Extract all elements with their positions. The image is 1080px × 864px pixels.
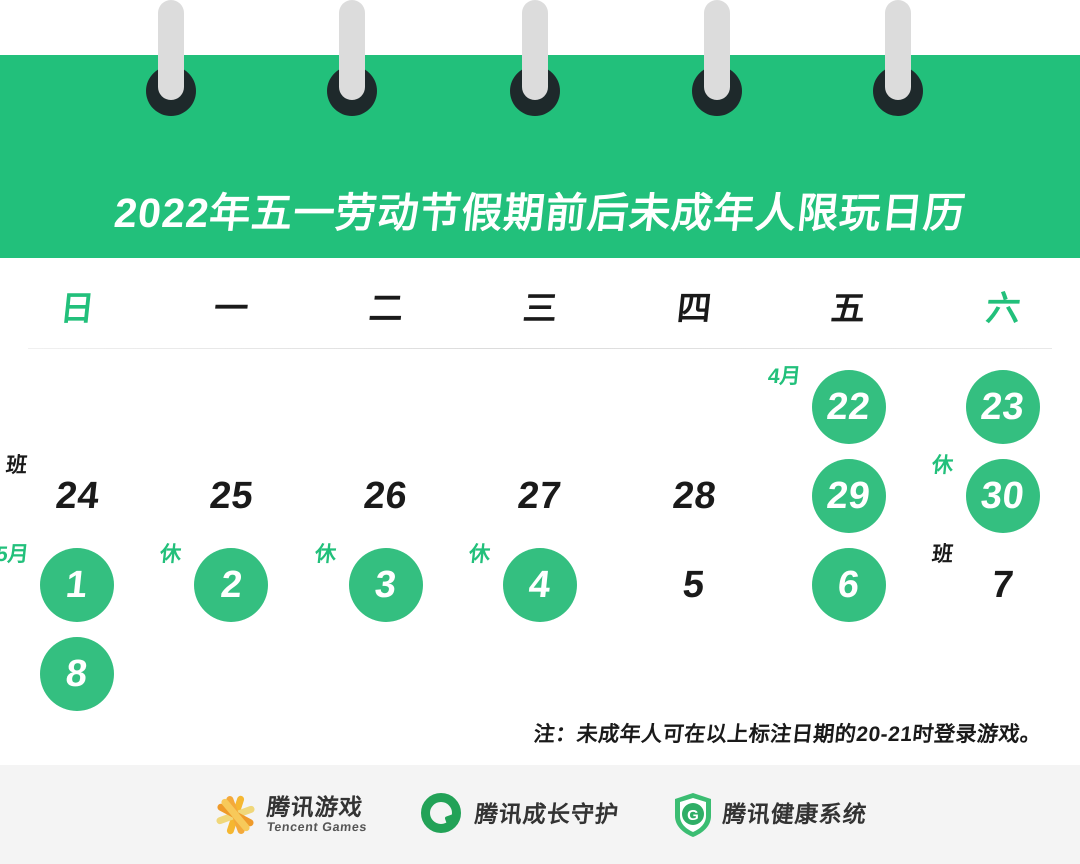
rest-tag: 休 xyxy=(159,544,182,565)
day-number: 2 xyxy=(219,566,245,604)
page-title: 2022年五一劳动节假期前后未成年人限玩日历 xyxy=(0,193,1080,234)
day-cell-apr-25[interactable]: 25 xyxy=(194,459,268,533)
calendar-cell[interactable]: 5 xyxy=(617,540,771,629)
rest-tag: 休 xyxy=(314,544,337,565)
day-number: 4 xyxy=(527,566,553,604)
rest-tag: 休 xyxy=(468,544,491,565)
day-number: 1 xyxy=(64,566,90,604)
month-tag-april: 4月 xyxy=(766,366,801,387)
calendar-cell xyxy=(0,362,154,451)
day-cell xyxy=(40,370,114,444)
brand-text: 腾讯健康系统 xyxy=(723,802,867,826)
rest-tag: 休 xyxy=(931,455,954,476)
calendar-cell xyxy=(771,629,925,718)
day-number: 26 xyxy=(362,477,409,515)
day-cell xyxy=(194,370,268,444)
brand-health-system: G 腾讯健康系统 xyxy=(673,792,867,838)
brand-text: 腾讯游戏 Tencent Games xyxy=(267,795,367,834)
brand-text: 腾讯成长守护 xyxy=(475,802,619,826)
calendar-cell[interactable]: 班7 xyxy=(926,540,1080,629)
day-number: 22 xyxy=(825,388,872,426)
svg-text:G: G xyxy=(687,807,699,824)
day-cell xyxy=(194,637,268,711)
calendar-week-row: 班24 25 26 27 28 29 休30 xyxy=(0,451,1080,540)
day-number: 6 xyxy=(836,566,862,604)
day-number: 5 xyxy=(681,566,707,604)
day-number: 27 xyxy=(516,477,563,515)
calendar-cell xyxy=(463,362,617,451)
day-cell-may-8[interactable]: 8 xyxy=(40,637,114,711)
brand-tencent-games: 腾讯游戏 Tencent Games xyxy=(213,793,367,837)
weekday-saturday: 六 xyxy=(922,278,1080,340)
calendar-cell[interactable]: 4月22 xyxy=(771,362,925,451)
growth-guard-ring-icon xyxy=(421,793,465,837)
calendar-week-row: 5月1 休2 休3 休4 5 6 班7 xyxy=(0,540,1080,629)
work-tag: 班 xyxy=(931,544,954,565)
weekday-header-row: 日 一 二 三 四 五 六 xyxy=(0,278,1080,340)
day-cell xyxy=(812,637,886,711)
calendar-cell[interactable]: 休3 xyxy=(309,540,463,629)
day-cell-may-7[interactable]: 班7 xyxy=(966,548,1040,622)
work-tag: 班 xyxy=(5,455,28,476)
day-number: 30 xyxy=(979,477,1026,515)
health-system-shield-icon: G xyxy=(673,792,713,838)
day-cell xyxy=(503,637,577,711)
poster-header: 2022年五一劳动节假期前后未成年人限玩日历 xyxy=(0,55,1080,258)
day-cell-apr-28[interactable]: 28 xyxy=(657,459,731,533)
calendar-poster: 2022年五一劳动节假期前后未成年人限玩日历 日 一 二 三 四 五 六 4月2… xyxy=(0,0,1080,864)
day-number: 23 xyxy=(979,388,1026,426)
calendar-cell[interactable]: 休4 xyxy=(463,540,617,629)
calendar-cell[interactable]: 26 xyxy=(309,451,463,540)
calendar-cell[interactable]: 休2 xyxy=(154,540,308,629)
brand-name-cn: 腾讯游戏 xyxy=(266,795,369,819)
day-cell-may-2[interactable]: 休2 xyxy=(194,548,268,622)
day-cell xyxy=(657,370,731,444)
day-number: 7 xyxy=(990,566,1016,604)
day-cell-may-6[interactable]: 6 xyxy=(812,548,886,622)
day-number: 3 xyxy=(373,566,399,604)
month-tag-may: 5月 xyxy=(0,544,30,565)
footnote: 注：未成年人可在以上标注日期的20-21时登录游戏。 xyxy=(533,718,1044,748)
day-cell-may-3[interactable]: 休3 xyxy=(349,548,423,622)
footer-brand-bar: 腾讯游戏 Tencent Games 腾讯成长守护 G xyxy=(0,765,1080,864)
day-cell-apr-30[interactable]: 休30 xyxy=(966,459,1040,533)
calendar-cell xyxy=(154,362,308,451)
weekday-tuesday: 二 xyxy=(305,278,466,340)
calendar-cell xyxy=(926,629,1080,718)
calendar-cell[interactable]: 29 xyxy=(771,451,925,540)
brand-name-cn: 腾讯健康系统 xyxy=(722,802,869,826)
calendar-week-row: 8 xyxy=(0,629,1080,718)
calendar-cell xyxy=(309,362,463,451)
calendar-cell xyxy=(463,629,617,718)
day-number: 25 xyxy=(208,477,255,515)
calendar-cell[interactable]: 5月1 xyxy=(0,540,154,629)
calendar-cell[interactable]: 班24 xyxy=(0,451,154,540)
day-cell xyxy=(349,637,423,711)
weekday-wednesday: 三 xyxy=(460,278,621,340)
calendar-cell[interactable]: 25 xyxy=(154,451,308,540)
calendar-cell[interactable]: 8 xyxy=(0,629,154,718)
day-cell xyxy=(657,637,731,711)
day-number: 24 xyxy=(54,477,101,515)
calendar-cell[interactable]: 28 xyxy=(617,451,771,540)
calendar-week-row: 4月22 23 xyxy=(0,362,1080,451)
day-cell-apr-22[interactable]: 4月22 xyxy=(812,370,886,444)
brand-name-en: Tencent Games xyxy=(266,821,367,834)
calendar-cell[interactable]: 23 xyxy=(926,362,1080,451)
calendar-grid: 4月22 23 班24 25 26 27 28 29 休30 5月1 休2 休3… xyxy=(0,362,1080,718)
weekday-sunday: 日 xyxy=(0,278,158,340)
header-divider xyxy=(28,348,1052,349)
day-cell-apr-26[interactable]: 26 xyxy=(349,459,423,533)
day-cell xyxy=(349,370,423,444)
day-cell-apr-23[interactable]: 23 xyxy=(966,370,1040,444)
calendar-cell xyxy=(309,629,463,718)
calendar-cell[interactable]: 休30 xyxy=(926,451,1080,540)
day-cell-apr-27[interactable]: 27 xyxy=(503,459,577,533)
day-number: 28 xyxy=(671,477,718,515)
day-cell xyxy=(503,370,577,444)
day-cell-may-1[interactable]: 5月1 xyxy=(40,548,114,622)
calendar-cell xyxy=(154,629,308,718)
day-cell-may-4[interactable]: 休4 xyxy=(503,548,577,622)
day-cell-apr-29[interactable]: 29 xyxy=(812,459,886,533)
calendar-cell xyxy=(617,362,771,451)
calendar-cell[interactable]: 6 xyxy=(771,540,925,629)
brand-growth-guard: 腾讯成长守护 xyxy=(421,793,619,837)
day-cell xyxy=(966,637,1040,711)
day-number: 29 xyxy=(825,477,872,515)
weekday-thursday: 四 xyxy=(614,278,775,340)
day-cell-may-5[interactable]: 5 xyxy=(657,548,731,622)
calendar-cell[interactable]: 27 xyxy=(463,451,617,540)
weekday-monday: 一 xyxy=(151,278,312,340)
day-cell-apr-24[interactable]: 班24 xyxy=(40,459,114,533)
day-number: 8 xyxy=(64,655,90,693)
weekday-friday: 五 xyxy=(768,278,929,340)
tencent-games-star-icon xyxy=(213,793,257,837)
calendar-cell xyxy=(617,629,771,718)
brand-name-cn: 腾讯成长守护 xyxy=(474,802,621,826)
